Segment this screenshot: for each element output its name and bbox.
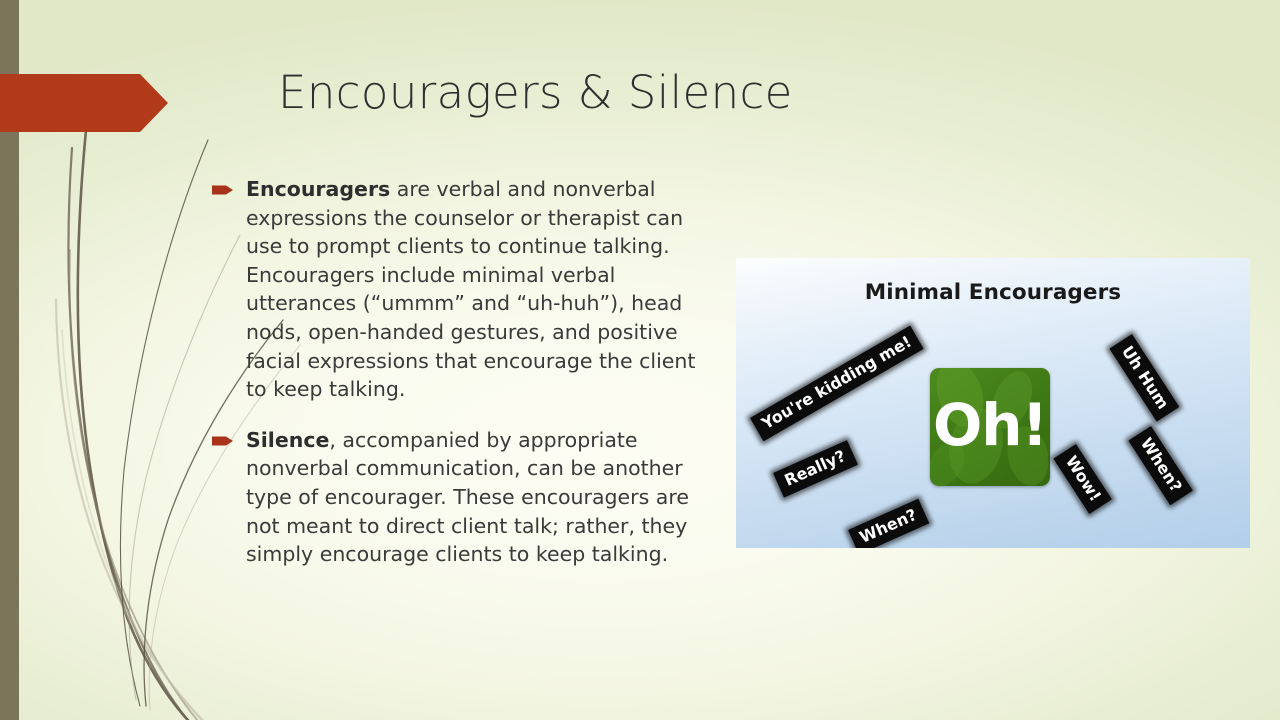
encourager-tag: You're kidding me! <box>750 325 924 441</box>
red-arrow-bullet-icon <box>212 435 234 447</box>
bullet-list: Encouragers are verbal and nonverbal exp… <box>212 175 712 591</box>
encourager-tag: When? <box>848 499 929 548</box>
list-item: Silence, accompanied by appropriate nonv… <box>212 426 712 569</box>
oh-tile: Oh! <box>930 368 1050 486</box>
list-item: Encouragers are verbal and nonverbal exp… <box>212 175 712 404</box>
slide-canvas: Encouragers & Silence Encouragers are ve… <box>0 0 1280 720</box>
bullet-lead: Encouragers <box>246 177 390 201</box>
page-title: Encouragers & Silence <box>278 66 1178 119</box>
red-arrow-bullet-icon <box>212 184 234 196</box>
bullet-text: Encouragers are verbal and nonverbal exp… <box>246 175 712 404</box>
encourager-tag: When? <box>1128 426 1192 505</box>
encourager-tag: Uh Hum <box>1109 334 1179 422</box>
encourager-tag: Wow! <box>1053 444 1112 514</box>
bullet-lead: Silence <box>246 428 329 452</box>
image-heading: Minimal Encouragers <box>736 280 1250 305</box>
encourager-tag: Really? <box>773 440 858 497</box>
bullet-rest: are verbal and nonverbal expressions the… <box>246 177 695 401</box>
minimal-encouragers-image: Minimal Encouragers Oh! You're kidding m… <box>736 258 1250 548</box>
oh-text: Oh! <box>930 368 1050 486</box>
title-red-arrow-banner <box>0 74 168 132</box>
bullet-text: Silence, accompanied by appropriate nonv… <box>246 426 712 569</box>
